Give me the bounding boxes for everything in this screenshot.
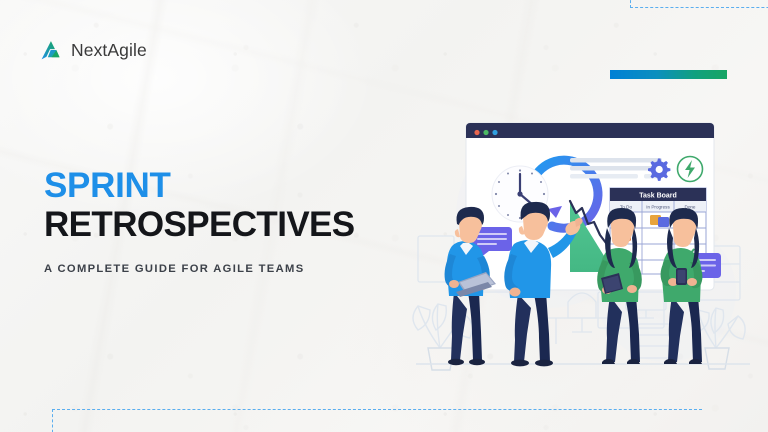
lightning-bolt-icon[interactable] <box>678 157 703 182</box>
page-title-line1: SPRINT <box>44 168 404 204</box>
nextagile-arrow-logo-icon <box>38 38 63 63</box>
poster-canvas: NextAgile SPRINT RETROSPECTIVES A COMPLE… <box>0 0 768 432</box>
gradient-accent-bar <box>610 70 727 79</box>
page-title-line2: RETROSPECTIVES <box>44 206 404 244</box>
browser-title-bar <box>466 123 714 138</box>
task-card-blue[interactable] <box>658 217 669 227</box>
task-board-title: Task Board <box>639 193 677 200</box>
window-minimize-dot[interactable] <box>483 130 488 135</box>
placeholder-text-lines <box>570 158 662 179</box>
window-maximize-dot[interactable] <box>492 130 497 135</box>
gear-icon[interactable] <box>648 159 670 181</box>
brand-name: NextAgile <box>71 40 147 61</box>
headline-block: SPRINT RETROSPECTIVES A COMPLETE GUIDE F… <box>44 168 404 275</box>
window-close-dot[interactable] <box>474 130 479 135</box>
task-board-col-inprogress: In Progress <box>646 205 670 210</box>
page-subtitle: A COMPLETE GUIDE FOR AGILE TEAMS <box>44 263 404 275</box>
dashed-corner-frame-top-right <box>630 0 768 8</box>
brand-logo[interactable]: NextAgile <box>38 38 147 63</box>
dashed-corner-frame-bottom-left <box>52 409 702 432</box>
agile-team-dashboard-illustration: Task Board To Do In Progress Done <box>398 96 768 386</box>
illustration-svg: Task Board To Do In Progress Done <box>398 96 768 386</box>
